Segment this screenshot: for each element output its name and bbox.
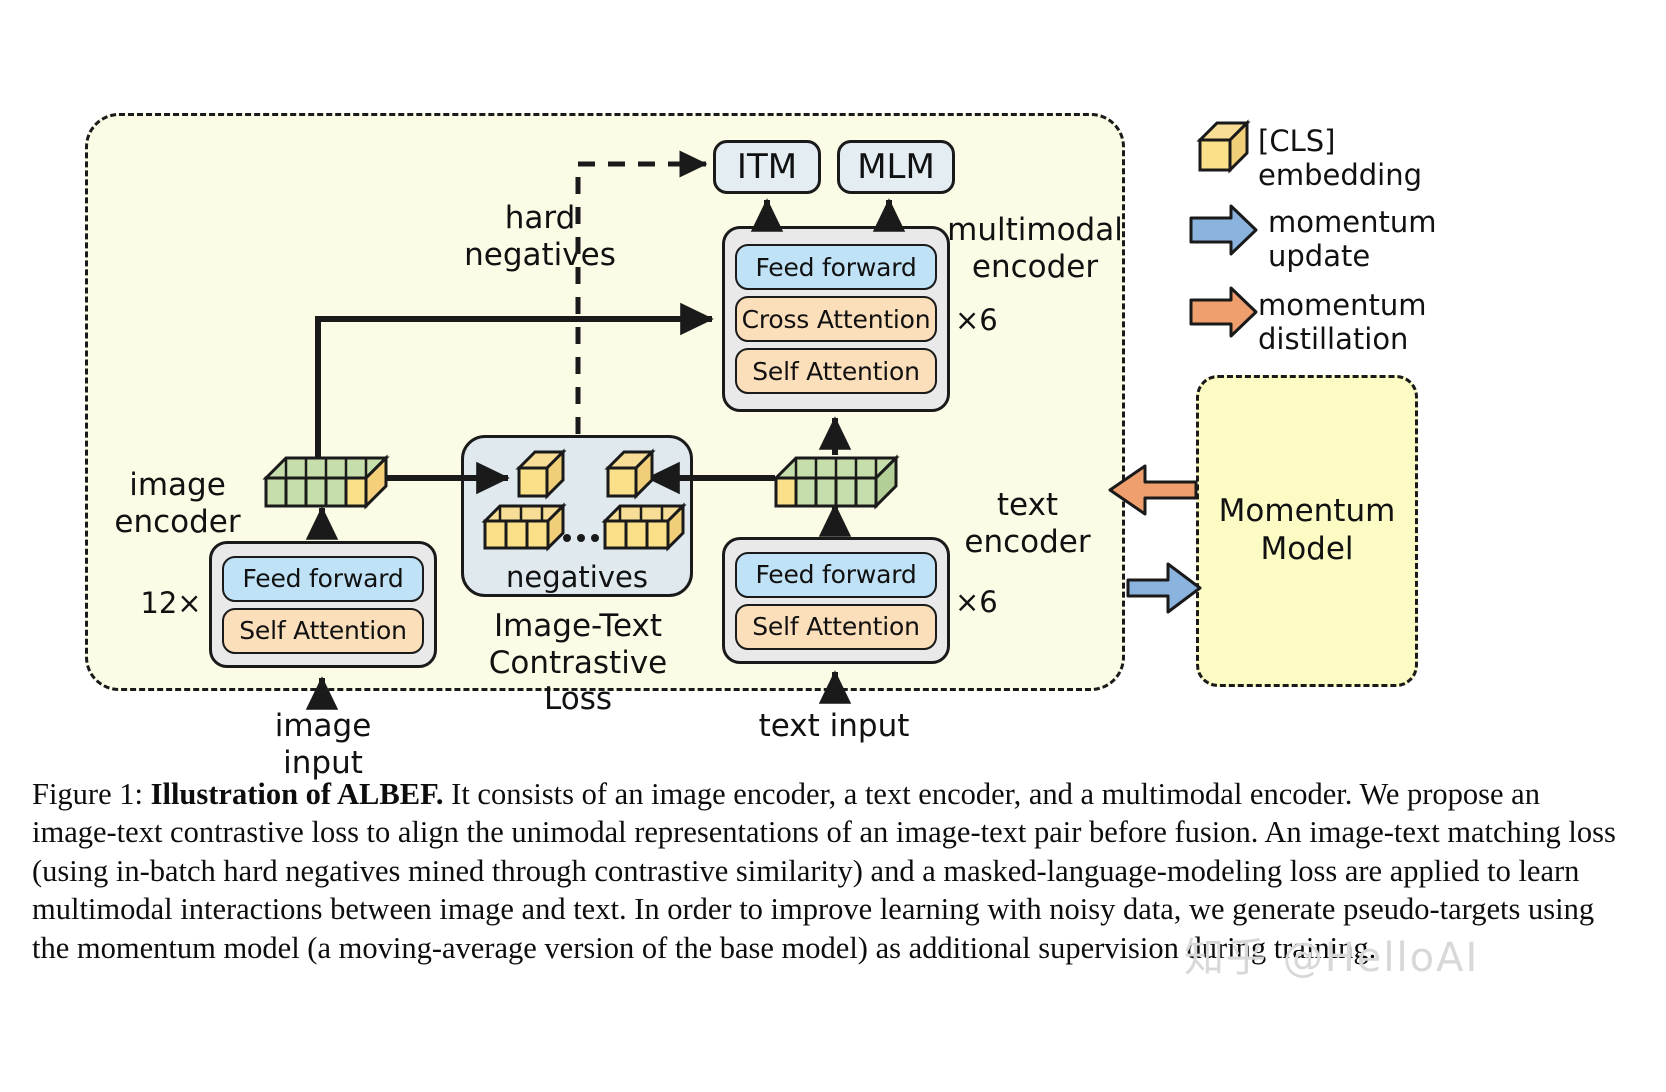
image-self-attention-label: Self Attention bbox=[239, 616, 407, 645]
text-feed-forward-label: Feed forward bbox=[755, 560, 916, 589]
text-encoder-block[interactable]: Feed forward Self Attention bbox=[722, 537, 950, 664]
momentum-model-label: Momentum Model bbox=[1199, 493, 1415, 569]
legend-cls-embedding-label: [CLS] embedding bbox=[1258, 124, 1473, 192]
multimodal-feed-forward-label: Feed forward bbox=[755, 253, 916, 282]
momentum-update-arrow bbox=[1128, 564, 1200, 612]
multimodal-encoder-repeat: ×6 bbox=[955, 303, 1025, 337]
multimodal-feed-forward-block[interactable]: Feed forward bbox=[735, 244, 937, 290]
itc-loss-label: Image-Text Contrastive Loss bbox=[460, 608, 696, 718]
itm-label: ITM bbox=[737, 147, 797, 187]
text-encoder-label: text encoder bbox=[955, 487, 1100, 560]
legend-momentum-update-label: momentum update bbox=[1268, 205, 1483, 273]
mlm-head-box[interactable]: MLM bbox=[837, 140, 955, 194]
image-encoder-label: image encoder bbox=[95, 467, 260, 540]
text-self-attention-label: Self Attention bbox=[752, 612, 920, 641]
text-self-attention-block[interactable]: Self Attention bbox=[735, 604, 937, 650]
text-encoder-repeat: ×6 bbox=[955, 585, 1017, 619]
image-feed-forward-block[interactable]: Feed forward bbox=[222, 556, 424, 602]
caption-bold-title: Illustration of ALBEF. bbox=[151, 777, 444, 811]
multimodal-cross-attention-block[interactable]: Cross Attention bbox=[735, 296, 937, 342]
orange-arrow-icon bbox=[1191, 288, 1256, 336]
multimodal-cross-attention-label: Cross Attention bbox=[742, 305, 931, 334]
text-input-label: text input bbox=[744, 708, 924, 745]
multimodal-self-attention-block[interactable]: Self Attention bbox=[735, 348, 937, 394]
yellow-cube-icon bbox=[1200, 123, 1247, 170]
watermark: 知乎 @HelloAI bbox=[1184, 925, 1479, 983]
figure-canvas: ITM MLM Feed forward Cross Attention Sel… bbox=[0, 0, 1666, 1092]
text-feed-forward-block[interactable]: Feed forward bbox=[735, 552, 937, 598]
image-encoder-block[interactable]: Feed forward Self Attention bbox=[209, 541, 437, 668]
caption-prefix: Figure 1: bbox=[32, 777, 151, 811]
multimodal-self-attention-label: Self Attention bbox=[752, 357, 920, 386]
hard-negatives-label: hard negatives bbox=[440, 200, 640, 273]
blue-arrow-icon bbox=[1191, 206, 1256, 254]
image-feed-forward-label: Feed forward bbox=[242, 564, 403, 593]
multimodal-encoder-block[interactable]: Feed forward Cross Attention Self Attent… bbox=[722, 226, 950, 412]
image-input-label: image input bbox=[233, 708, 413, 781]
momentum-model-box[interactable]: Momentum Model bbox=[1196, 375, 1418, 687]
multimodal-encoder-label: multimodal encoder bbox=[945, 212, 1125, 285]
mlm-label: MLM bbox=[857, 147, 935, 187]
image-self-attention-block[interactable]: Self Attention bbox=[222, 608, 424, 654]
image-encoder-repeat: 12× bbox=[140, 586, 202, 620]
legend-momentum-distillation-label: momentum distillation bbox=[1258, 288, 1473, 356]
itm-head-box[interactable]: ITM bbox=[713, 140, 821, 194]
negatives-label: negatives bbox=[501, 560, 653, 594]
